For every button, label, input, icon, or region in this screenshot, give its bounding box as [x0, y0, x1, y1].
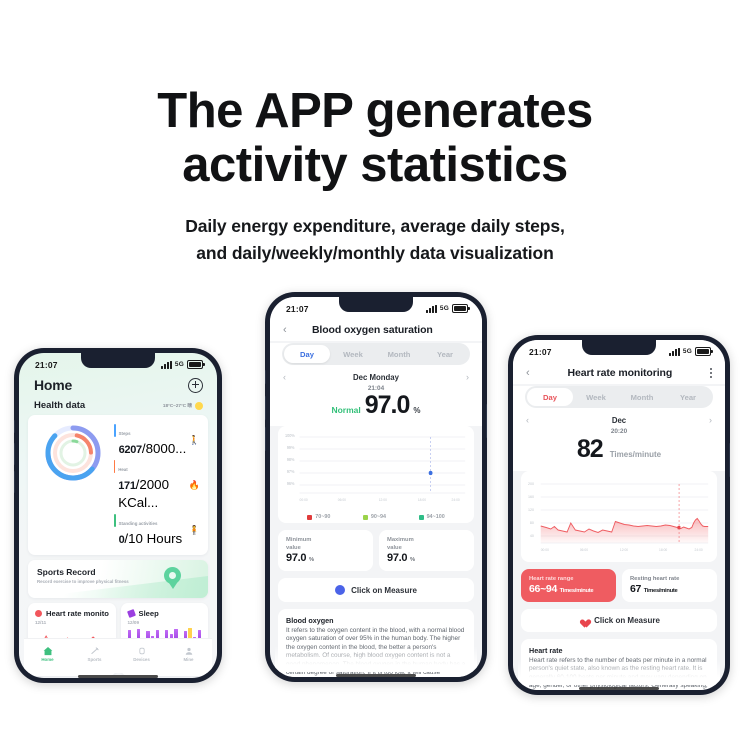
svg-text:97%: 97% [287, 469, 295, 474]
page-title: The APP generates activity statistics [0, 0, 750, 191]
svg-text:200: 200 [528, 482, 534, 486]
tab-devices[interactable]: Devices [118, 645, 165, 662]
page-subtitle: Daily energy expenditure, average daily … [0, 213, 750, 267]
weather-info: 18°C~27°C 晴 [163, 402, 203, 410]
sports-record-title: Sports Record [28, 560, 208, 577]
period-tabs: Day Week Month Year [525, 386, 713, 408]
home-indicator [336, 674, 416, 677]
prev-date-icon[interactable]: ‹ [283, 372, 286, 382]
signal-icon [426, 305, 437, 313]
metric-value: 6207 [119, 444, 142, 456]
svg-text:18:00: 18:00 [418, 498, 426, 502]
tile-title: Heart rate monitoring [46, 609, 109, 618]
info-title: Heart rate [529, 646, 709, 655]
minmax-row: Minimum value 97.0 % Maximum value 97.0 … [278, 530, 474, 571]
tab-label: Home [24, 657, 71, 662]
maximum-value-card: Maximum value 97.0 % [379, 530, 474, 571]
content-fade [518, 659, 720, 685]
current-date: Dec [612, 416, 626, 425]
svg-text:06:00: 06:00 [580, 548, 588, 552]
tab-year[interactable]: Year [422, 345, 468, 363]
sports-icon [71, 645, 118, 656]
max-label-line1: Maximum [387, 536, 466, 544]
next-date-icon[interactable]: › [709, 415, 712, 425]
period-tabs: Day Week Month Year [282, 343, 470, 365]
content-fade [275, 646, 477, 672]
page-title-line2: activity statistics [0, 137, 750, 191]
hr-area-chart: 200160120 8040 00:0006:0012:00 18:0024:0… [528, 476, 710, 554]
max-label-line2: value [387, 544, 466, 552]
svg-text:98%: 98% [287, 457, 295, 462]
walk-icon: 🚶 [189, 436, 200, 445]
tile-date: 12/11 [35, 620, 109, 625]
svg-text:96%: 96% [287, 481, 295, 486]
legend-item: 94~100 [419, 514, 445, 520]
spo2-title: Blood oxygen saturation [312, 324, 433, 336]
phone-notch [582, 340, 656, 355]
hr-summary-row: Heart rate range 66~94 Times/minute Rest… [521, 569, 717, 602]
tab-sports[interactable]: Sports [71, 645, 118, 662]
reading-unit: % [413, 406, 420, 415]
minimum-value-card: Minimum value 97.0 % [278, 530, 373, 571]
back-icon[interactable]: ‹ [283, 325, 287, 336]
svg-text:00:00: 00:00 [300, 498, 308, 502]
metric-standing: Standing activities 0/10 Hours 🧍 [114, 512, 200, 548]
tab-day[interactable]: Day [284, 345, 330, 363]
phone-heart-rate-screen: 21:07 5G ‹ Heart rate monitoring Day Wee… [508, 335, 730, 695]
metric-value: 171 [118, 480, 135, 492]
metric-goal: /10 Hours [124, 531, 182, 546]
status-badge: Normal [331, 405, 360, 415]
svg-text:80: 80 [530, 521, 534, 525]
battery-icon [452, 304, 468, 314]
phone-notch [81, 353, 155, 368]
next-date-icon[interactable]: › [466, 372, 469, 382]
tab-week[interactable]: Week [573, 388, 619, 406]
hr-navbar: ‹ Heart rate monitoring [513, 360, 725, 384]
svg-text:12:00: 12:00 [620, 548, 628, 552]
spo2-line-chart: 100%99%98% 97%96% 00:0006:0012:00 18:002… [285, 431, 467, 503]
tab-mine[interactable]: Mine [165, 645, 212, 662]
metric-bar [114, 424, 116, 437]
tab-month[interactable]: Month [619, 388, 665, 406]
min-label-line2: value [286, 544, 365, 552]
devices-icon [118, 645, 165, 656]
network-label: 5G [683, 348, 692, 355]
spo2-chart-card[interactable]: 100%99%98% 97%96% 00:0006:0012:00 18:002… [278, 426, 474, 523]
phone-mute-switch [14, 420, 15, 433]
spo2-reading: Normal 97.0 % [270, 392, 482, 420]
legend-item: 90~94 [363, 514, 386, 520]
hr-title: Heart rate monitoring [568, 367, 673, 379]
svg-text:24:00: 24:00 [452, 498, 460, 502]
spo2-measure-button[interactable]: Click on Measure [278, 578, 474, 602]
phone-volume-up [14, 443, 15, 465]
metric-heat: Heat 171/2000 KCal... 🔥 [114, 458, 200, 512]
phone-mute-switch [265, 370, 266, 384]
range-label: Heart rate range [529, 575, 608, 583]
current-date: Dec Monday [353, 373, 399, 382]
prev-date-icon[interactable]: ‹ [526, 415, 529, 425]
info-title: Blood oxygen [286, 616, 466, 625]
page-title-line1: The APP generates [0, 0, 750, 137]
heart-icon [35, 610, 42, 617]
droplet-icon [335, 585, 345, 595]
min-value: 97.0 [286, 552, 306, 564]
flame-icon: 🔥 [189, 481, 200, 490]
tile-title: Sleep [139, 609, 159, 618]
reading-value: 97.0 [365, 393, 410, 418]
tab-label: Mine [165, 657, 212, 662]
resting-heart-rate-card: Resting heart rate 67 Times/minute [622, 569, 717, 602]
sports-record-card[interactable]: Sports Record Record exercise to improve… [28, 560, 208, 598]
svg-text:18:00: 18:00 [659, 548, 667, 552]
status-time: 21:07 [286, 304, 309, 314]
svg-text:24:00: 24:00 [695, 548, 703, 552]
phone-power-button [729, 443, 730, 477]
svg-text:99%: 99% [287, 445, 295, 450]
battery-icon [187, 360, 203, 370]
metric-name: Heat [118, 467, 128, 472]
legend-swatch [363, 515, 368, 520]
home-indicator [78, 675, 158, 678]
hr-chart-card[interactable]: 200160120 8040 00:0006:0012:00 18:0024:0… [521, 471, 717, 562]
legend-swatch [307, 515, 312, 520]
tab-year[interactable]: Year [665, 388, 711, 406]
phone-notch [339, 297, 413, 312]
reading-value: 82 [577, 437, 603, 462]
network-label: 5G [175, 361, 184, 368]
phone-home-screen: 21:07 5G Home Health data 18°C~27°C 晴 [14, 348, 222, 683]
metric-goal: /8000... [142, 441, 186, 456]
svg-text:12:00: 12:00 [379, 498, 387, 502]
resting-value: 67 [630, 583, 641, 595]
metric-bar [114, 460, 115, 473]
hr-measure-button[interactable]: Click on Measure [521, 609, 717, 632]
activity-rings-card[interactable]: Steps 6207/8000... 🚶 Heat 171/2000 KCal.… [28, 415, 208, 555]
hero-section: The APP generates activity statistics Da… [0, 0, 750, 267]
resting-unit: Times/minute [644, 588, 678, 594]
resting-label: Resting heart rate [630, 575, 709, 583]
svg-text:100%: 100% [285, 433, 295, 438]
tab-label: Devices [118, 657, 165, 662]
phone-volume-down [265, 427, 266, 451]
svg-text:120: 120 [528, 508, 534, 512]
page-subtitle-line2: and daily/weekly/monthly data visualizat… [0, 240, 750, 267]
range-value: 66~94 [529, 583, 557, 595]
heart-icon [578, 616, 588, 625]
legend-swatch [419, 515, 424, 520]
svg-text:160: 160 [528, 495, 534, 499]
metric-steps: Steps 6207/8000... 🚶 [114, 422, 200, 458]
moon-icon [127, 609, 136, 618]
min-unit: % [309, 557, 314, 563]
max-value: 97.0 [387, 552, 407, 564]
status-time: 21:07 [529, 347, 552, 357]
tab-week[interactable]: Week [330, 345, 376, 363]
metric-name: Standing activities [119, 521, 158, 526]
signal-icon [669, 348, 680, 356]
metric-bar [114, 514, 116, 527]
home-indicator [579, 687, 659, 690]
tab-home[interactable]: Home [24, 645, 71, 662]
network-label: 5G [440, 305, 449, 312]
signal-icon [161, 361, 172, 369]
phone-volume-down [14, 471, 15, 493]
status-time: 21:07 [35, 360, 58, 370]
phone-volume-up [265, 396, 266, 420]
spo2-navbar: ‹ Blood oxygen saturation [270, 317, 482, 341]
stand-icon: 🧍 [189, 526, 200, 535]
measure-label: Click on Measure [594, 616, 660, 625]
battery-icon [695, 347, 711, 357]
home-header: Home [19, 373, 217, 393]
max-unit: % [410, 557, 415, 563]
hr-reading: 82 Times/minute [513, 435, 725, 465]
sun-icon [195, 402, 203, 410]
activity-rings-chart [36, 422, 110, 484]
profile-icon [165, 645, 212, 656]
add-icon[interactable] [188, 378, 203, 393]
reading-timestamp: 20:20 [513, 425, 725, 435]
heart-rate-range-card: Heart rate range 66~94 Times/minute [521, 569, 616, 602]
phone-spo2-screen: 21:07 5G ‹ Blood oxygen saturation Day W… [265, 292, 487, 682]
min-label-line1: Minimum [286, 536, 365, 544]
more-icon[interactable] [710, 368, 712, 377]
bottom-tab-bar: Home Sports Devices Mine [24, 638, 212, 673]
range-unit: Times/minute [560, 588, 594, 594]
health-data-section-header: Health data 18°C~27°C 晴 [19, 393, 217, 415]
spo2-legend: 70~90 90~94 94~100 [285, 508, 467, 520]
svg-text:06:00: 06:00 [338, 498, 346, 502]
svg-text:00:00: 00:00 [541, 548, 549, 552]
metric-name: Steps [119, 431, 131, 436]
back-icon[interactable]: ‹ [526, 368, 530, 379]
tab-day[interactable]: Day [527, 388, 573, 406]
home-title: Home [34, 377, 72, 393]
page-subtitle-line1: Daily energy expenditure, average daily … [0, 213, 750, 240]
tile-date: 12/09 [128, 620, 202, 625]
home-icon [24, 645, 71, 656]
phone-power-button [486, 404, 487, 438]
reading-unit: Times/minute [610, 450, 661, 459]
legend-item: 70~90 [307, 514, 330, 520]
weather-temp: 18°C~27°C 晴 [163, 403, 192, 409]
tab-month[interactable]: Month [376, 345, 422, 363]
tab-label: Sports [71, 657, 118, 662]
svg-text:40: 40 [530, 534, 534, 538]
date-navigator: ‹ Dec Monday › [270, 365, 482, 382]
measure-label: Click on Measure [351, 586, 417, 595]
date-navigator: ‹ Dec › [513, 408, 725, 425]
location-pin-icon [164, 567, 181, 589]
health-data-label: Health data [34, 400, 85, 411]
